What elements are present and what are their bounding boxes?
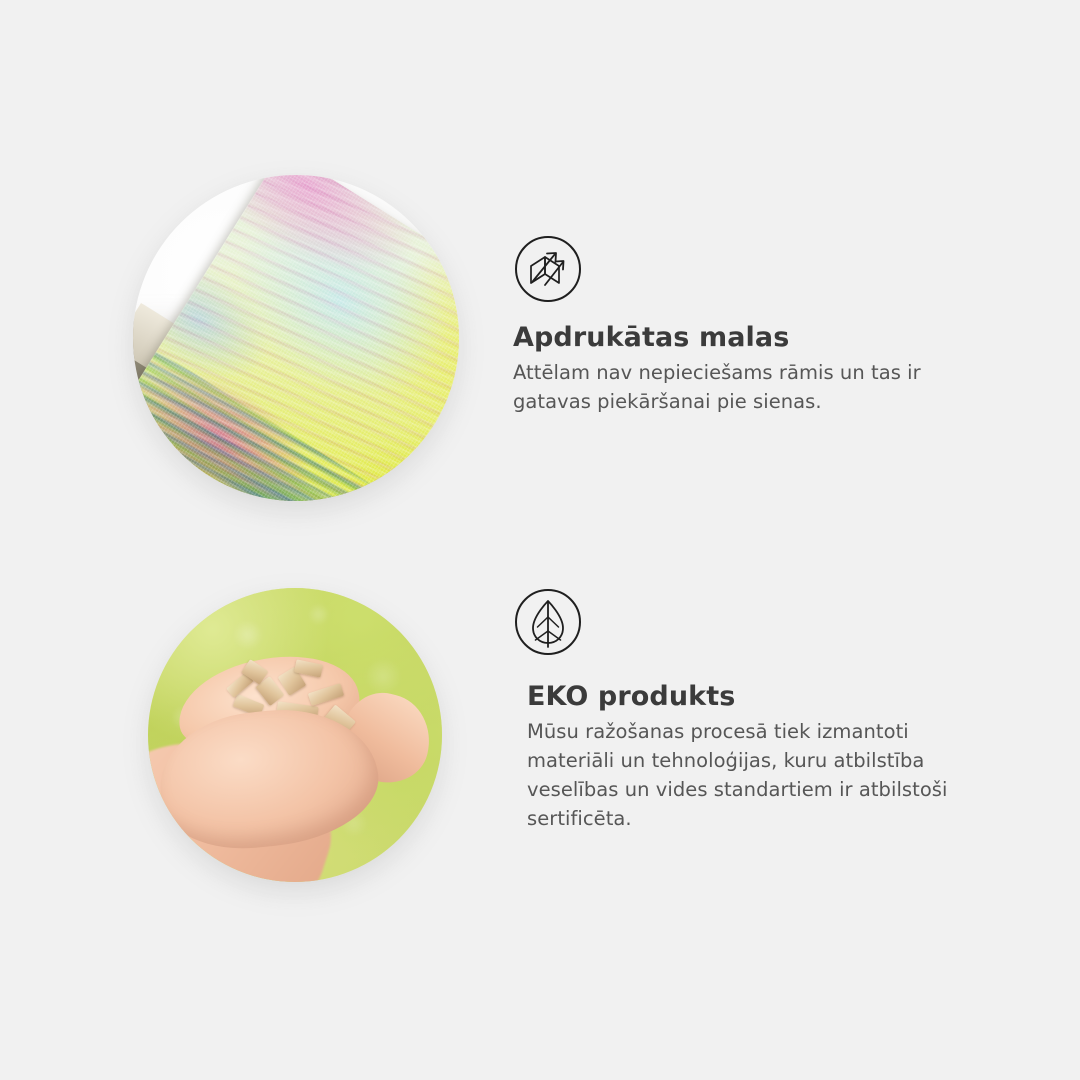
leaf-icon [514, 588, 582, 656]
feature-title: EKO produkts [527, 681, 1027, 712]
feature-block-eco-product: EKO produkts Mūsu ražošanas procesā tiek… [0, 588, 1080, 888]
feature-block-printed-edges: Apdrukātas malas Attēlam nav nepieciešam… [0, 175, 1080, 505]
printed-edges-icon [514, 235, 582, 303]
feature-title: Apdrukātas malas [513, 322, 1013, 353]
feature-text-eco-product: EKO produkts Mūsu ražošanas procesā tiek… [527, 681, 1027, 833]
feature-description: Mūsu ražošanas procesā tiek izmantoti ma… [527, 718, 1027, 833]
feature-text-printed-edges: Apdrukātas malas Attēlam nav nepieciešam… [513, 322, 1013, 417]
hands-holding-wood-chips-photo [148, 588, 442, 882]
feature-description: Attēlam nav nepieciešams rāmis un tas ir… [513, 359, 1013, 417]
canvas-print-corner-photo [133, 175, 459, 501]
feature-highlights-page: Apdrukātas malas Attēlam nav nepieciešam… [0, 0, 1080, 1080]
